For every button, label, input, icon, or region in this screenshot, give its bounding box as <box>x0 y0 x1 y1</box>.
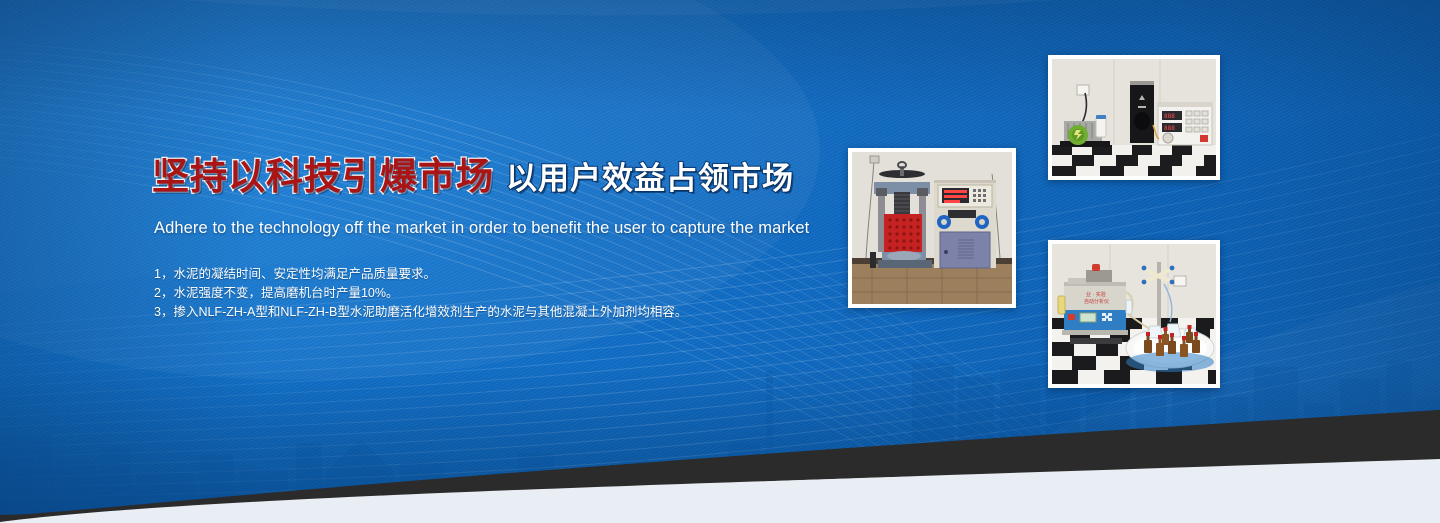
compression-testing-machine-image <box>852 152 1012 304</box>
banner-copy: 坚持以科技引爆市场以用户效益占领市场 Adhere to the technol… <box>152 158 812 322</box>
photo-frame: 888 888 <box>1052 59 1216 176</box>
photo-frame: 业 · 实验 自动分析仪 <box>1052 244 1216 384</box>
photo-vacuum-pump-and-controller: 888 888 <box>1048 55 1220 180</box>
list-item: 2，水泥强度不变，提高磨机台时产量10%。 <box>154 284 812 303</box>
headline-primary: 坚持以科技引爆市场 <box>152 154 494 198</box>
feature-list: 1，水泥的凝结时间、安定性均满足产品质量要求。 2，水泥强度不变，提高磨机台时产… <box>154 265 812 322</box>
photo-compression-testing-machine <box>848 148 1016 308</box>
bottom-diagonal-wedges <box>0 363 1440 523</box>
svg-text:自动分析仪: 自动分析仪 <box>1084 298 1109 305</box>
svg-text:888: 888 <box>1164 125 1175 132</box>
vacuum-pump-and-controller-image: 888 888 <box>1052 59 1216 176</box>
subheadline: Adhere to the technology off the market … <box>154 219 812 238</box>
page-title: 坚持以科技引爆市场以用户效益占领市场 <box>152 158 812 195</box>
list-item: 3，掺入NLF-ZH-A型和NLF-ZH-B型水泥助磨活化增效剂生产的水泥与其他… <box>154 303 812 322</box>
photo-frame <box>852 152 1012 304</box>
headline-secondary: 以用户效益占领市场 <box>506 161 794 197</box>
promo-banner: 坚持以科技引爆市场以用户效益占领市场 Adhere to the technol… <box>0 0 1440 523</box>
photo-sample-preparation-apparatus: 业 · 实验 自动分析仪 <box>1048 240 1220 388</box>
sample-preparation-apparatus-image: 业 · 实验 自动分析仪 <box>1052 244 1216 384</box>
list-item: 1，水泥的凝结时间、安定性均满足产品质量要求。 <box>154 265 812 284</box>
svg-text:888: 888 <box>1164 113 1175 120</box>
svg-text:业 · 实验: 业 · 实验 <box>1086 291 1106 298</box>
